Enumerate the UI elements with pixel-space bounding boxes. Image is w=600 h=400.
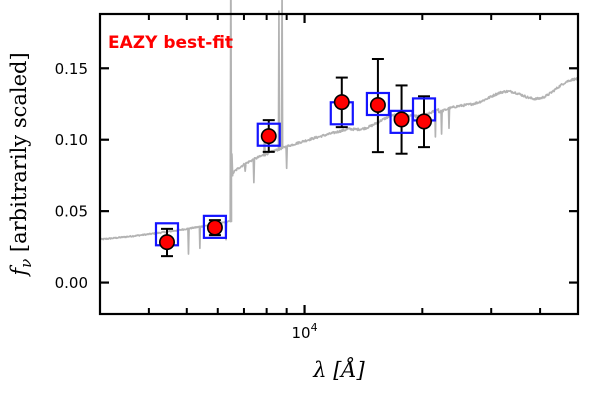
observed-photometry-point: [394, 112, 408, 126]
y-tick-label: 0.00: [55, 274, 88, 292]
y-tick-label: 0.05: [55, 203, 88, 221]
observed-photometry-point: [208, 220, 222, 234]
axes-layer: 0.000.050.100.15104: [55, 14, 578, 342]
y-tick-label: 0.15: [55, 60, 88, 78]
observed-photometry-point: [335, 95, 349, 109]
plot-annotation: EAZY best-fit: [108, 33, 233, 53]
x-axis-label: λ [Å]: [312, 357, 365, 382]
y-tick-label: 0.10: [55, 131, 88, 149]
observed-photometry-point: [262, 129, 276, 143]
observed-photometry-point: [371, 98, 385, 112]
y-axis-label: fν [arbitrarily scaled]: [7, 52, 35, 277]
sed-figure: 0.000.050.100.15104 λ [Å]fν [arbitrarily…: [0, 0, 600, 400]
observed-photometry-point: [417, 114, 431, 128]
plot-frame: [100, 14, 578, 314]
observed-photometry-point: [160, 235, 174, 249]
x-tick-label: 104: [292, 321, 318, 342]
sed-plot-svg: 0.000.050.100.15104 λ [Å]fν [arbitrarily…: [0, 0, 600, 400]
